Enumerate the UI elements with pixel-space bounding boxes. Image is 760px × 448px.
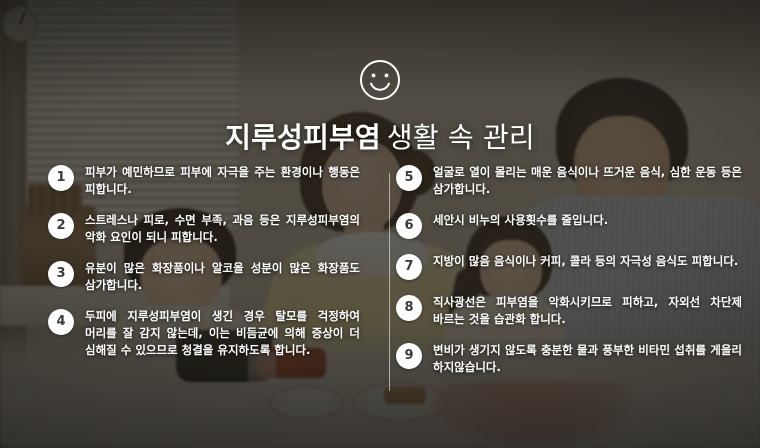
- page-title: 지루성피부염생활 속 관리: [0, 119, 760, 157]
- item-number-badge: 1: [48, 165, 74, 191]
- poster-content: 지루성피부염생활 속 관리 1 피부가 예민하므로 피부에 자극을 주는 환경이…: [0, 0, 760, 448]
- list-item: 5 얼굴로 열이 몰리는 매운 음식이나 뜨거운 음식, 심한 운동 등은 삼가…: [396, 164, 742, 198]
- item-text: 스트레스나 피로, 수면 부족, 과음 등은 지루성피부염의 악화 요인이 되니…: [85, 212, 360, 246]
- item-text: 두피에 지루성피부염이 생긴 경우 탈모를 걱정하여 머리를 잘 감지 않는데,…: [85, 308, 360, 359]
- item-text: 세안시 비누의 사용횟수를 줄입니다.: [433, 212, 608, 229]
- item-text: 지방이 많음 음식이나 커피, 콜라 등의 자극성 음식도 피합니다.: [433, 253, 738, 270]
- title-subject: 생활 속 관리: [387, 121, 535, 154]
- smiley-face-icon: [358, 58, 402, 102]
- item-number-badge: 9: [396, 343, 422, 369]
- item-number-badge: 6: [396, 213, 422, 239]
- item-number-badge: 8: [396, 295, 422, 321]
- tips-column-right: 5 얼굴로 열이 몰리는 매운 음식이나 뜨거운 음식, 심한 운동 등은 삼가…: [396, 164, 756, 390]
- list-item: 3 유분이 많은 화장품이나 알코올 성분이 많은 화장품도 삼가합니다.: [48, 260, 360, 294]
- item-number-badge: 7: [396, 254, 422, 280]
- list-item: 4 두피에 지루성피부염이 생긴 경우 탈모를 걱정하여 머리를 잘 감지 않는…: [48, 308, 360, 359]
- item-text: 얼굴로 열이 몰리는 매운 음식이나 뜨거운 음식, 심한 운동 등은 삼가합니…: [433, 164, 742, 198]
- list-item: 2 스트레스나 피로, 수면 부족, 과음 등은 지루성피부염의 악화 요인이 …: [48, 212, 360, 246]
- infographic-poster: 지루성피부염생활 속 관리 1 피부가 예민하므로 피부에 자극을 주는 환경이…: [0, 0, 760, 448]
- list-item: 6 세안시 비누의 사용횟수를 줄입니다.: [396, 212, 742, 239]
- item-number-badge: 3: [48, 261, 74, 287]
- list-item: 9 변비가 생기지 않도록 충분한 물과 풍부한 비타민 섭취를 게을리 하지않…: [396, 342, 742, 376]
- item-text: 변비가 생기지 않도록 충분한 물과 풍부한 비타민 섭취를 게을리 하지않습니…: [433, 342, 742, 376]
- title-keyword: 지루성피부염: [225, 121, 381, 154]
- list-item: 1 피부가 예민하므로 피부에 자극을 주는 환경이나 행동은 피합니다.: [48, 164, 360, 198]
- item-text: 피부가 예민하므로 피부에 자극을 주는 환경이나 행동은 피합니다.: [85, 164, 360, 198]
- tips-columns: 1 피부가 예민하므로 피부에 자극을 주는 환경이나 행동은 피합니다. 2 …: [0, 164, 760, 390]
- tips-column-left: 1 피부가 예민하므로 피부에 자극을 주는 환경이나 행동은 피합니다. 2 …: [0, 164, 380, 390]
- list-item: 8 직사광선은 피부염을 악화시키므로 피하고, 자외선 차단제 바르는 것을 …: [396, 294, 742, 328]
- item-number-badge: 2: [48, 213, 74, 239]
- item-text: 유분이 많은 화장품이나 알코올 성분이 많은 화장품도 삼가합니다.: [85, 260, 360, 294]
- item-text: 직사광선은 피부염을 악화시키므로 피하고, 자외선 차단제 바르는 것을 습관…: [433, 294, 742, 328]
- list-item: 7 지방이 많음 음식이나 커피, 콜라 등의 자극성 음식도 피합니다.: [396, 253, 742, 280]
- item-number-badge: 5: [396, 165, 422, 191]
- item-number-badge: 4: [48, 309, 74, 335]
